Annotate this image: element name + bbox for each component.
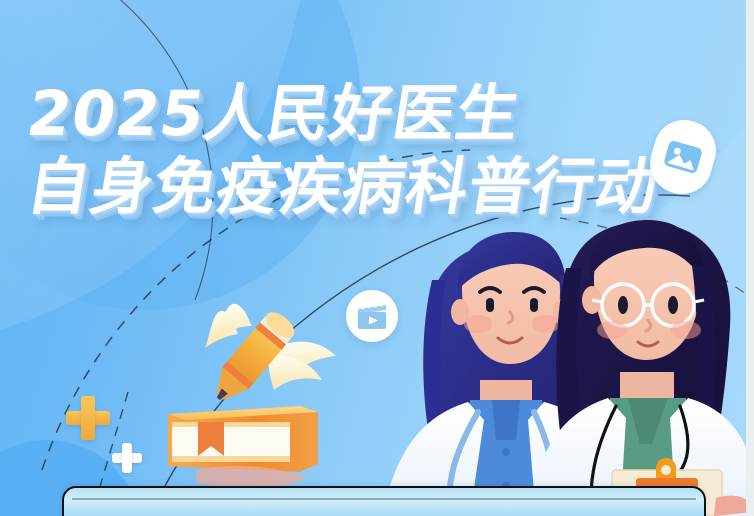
poster-canvas: 2025人民好医生 自身免疫疾病科普行动 <box>0 0 754 516</box>
desk-highlight-line <box>72 498 696 500</box>
book-with-bookmark-icon <box>168 406 318 489</box>
desk-bar <box>62 486 706 516</box>
winged-pencil-icon <box>205 304 336 410</box>
right-edge-strip <box>746 0 754 516</box>
illustration-layer <box>0 0 754 516</box>
